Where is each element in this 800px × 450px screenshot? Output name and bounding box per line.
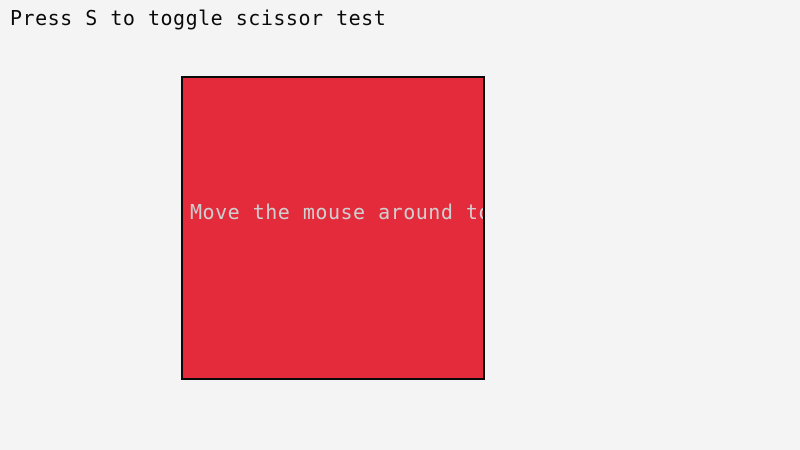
scissor-toggle-hint-text: Press S to toggle scissor test	[10, 6, 386, 30]
scissor-rectangle[interactable]: Move the mouse around to reveal parts of…	[181, 76, 485, 380]
app-window: Press S to toggle scissor test Move the …	[0, 0, 800, 450]
scissor-clip-region: Move the mouse around to reveal parts of…	[183, 78, 483, 378]
clipped-message-text: Move the mouse around to reveal parts of…	[190, 200, 483, 224]
